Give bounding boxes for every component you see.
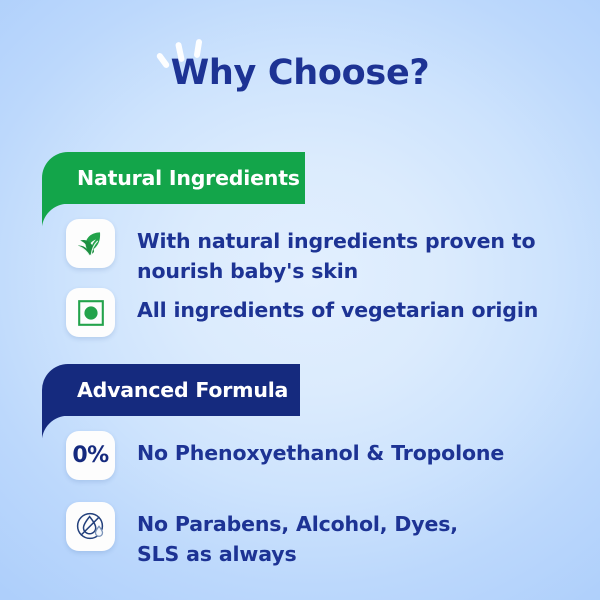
feature-row: 0% No Phenoxyethanol & Tropolone: [66, 431, 504, 480]
feature-text-line: No Phenoxyethanol & Tropolone: [137, 438, 504, 468]
feature-row: All ingredients of vegetarian origin: [66, 288, 538, 337]
no-droplet-icon: [66, 502, 115, 551]
section-badge-label: Advanced Formula: [77, 378, 288, 402]
section-badge-natural-ingredients: Natural Ingredients: [42, 152, 305, 204]
feature-text: No Phenoxyethanol & Tropolone: [137, 431, 504, 468]
feature-text: With natural ingredients proven to nouri…: [137, 219, 535, 286]
feature-text-line: nourish baby's skin: [137, 256, 535, 286]
feature-row: With natural ingredients proven to nouri…: [66, 219, 535, 286]
leaf-icon: [66, 219, 115, 268]
zero-percent-icon: 0%: [66, 431, 115, 480]
zero-percent-label: 0%: [72, 443, 108, 468]
feature-text: No Parabens, Alcohol, Dyes, SLS as alway…: [137, 502, 458, 569]
vegetarian-mark-icon: [66, 288, 115, 337]
feature-text-line: SLS as always: [137, 539, 458, 569]
feature-text-line: With natural ingredients proven to: [137, 226, 535, 256]
feature-text-line: No Parabens, Alcohol, Dyes,: [137, 509, 458, 539]
feature-text: All ingredients of vegetarian origin: [137, 288, 538, 325]
page-title: Why Choose?: [0, 53, 600, 93]
feature-row: No Parabens, Alcohol, Dyes, SLS as alway…: [66, 502, 458, 569]
section-badge-label: Natural Ingredients: [77, 166, 300, 190]
why-choose-poster: Why Choose? Natural Ingredients With nat…: [0, 0, 600, 600]
feature-text-line: All ingredients of vegetarian origin: [137, 295, 538, 325]
section-badge-advanced-formula: Advanced Formula: [42, 364, 300, 416]
